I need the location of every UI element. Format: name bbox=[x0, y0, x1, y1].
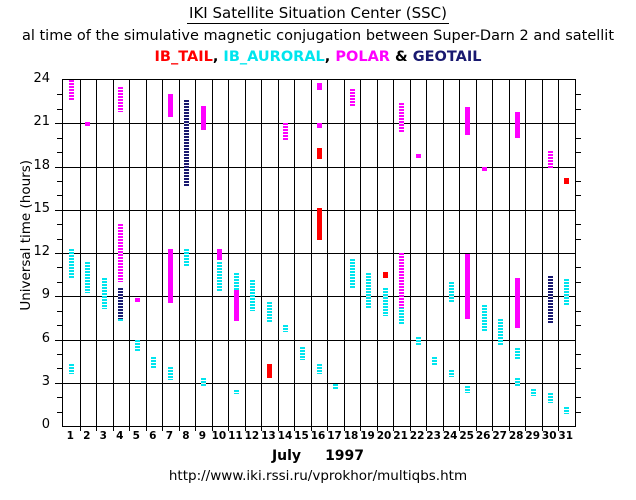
y-tick-major bbox=[55, 340, 63, 341]
data-bar-ib-auroral bbox=[564, 279, 569, 305]
data-bar-ib-auroral bbox=[432, 357, 437, 366]
y-axis-tick-label: 12 bbox=[14, 245, 50, 258]
data-bar-ib-auroral bbox=[168, 367, 173, 380]
y-tick-minor bbox=[57, 239, 63, 240]
y-tick-minor bbox=[57, 109, 63, 110]
data-bar-polar bbox=[217, 249, 222, 261]
grid-line-horizontal bbox=[63, 383, 575, 384]
y-tick-minor bbox=[575, 311, 581, 312]
data-bar-ib-auroral bbox=[531, 389, 536, 396]
y-tick-major bbox=[55, 210, 63, 211]
y-tick-minor bbox=[575, 267, 581, 268]
data-bar-ib-tail bbox=[317, 208, 322, 240]
data-bar-ib-auroral bbox=[102, 278, 107, 310]
page-title-text: IKI Satellite Situation Center (SSC) bbox=[187, 4, 449, 24]
y-tick-major bbox=[55, 123, 63, 124]
y-tick-minor bbox=[57, 397, 63, 398]
data-bar-polar bbox=[135, 298, 140, 302]
x-axis-title: July1997 bbox=[0, 448, 636, 464]
data-bar-ib-auroral bbox=[333, 384, 338, 390]
data-bar-ib-auroral bbox=[515, 378, 520, 385]
data-bar-ib-auroral bbox=[283, 325, 288, 332]
y-tick-minor bbox=[575, 138, 581, 139]
y-tick-minor bbox=[575, 397, 581, 398]
data-bar-polar bbox=[399, 103, 404, 133]
y-tick-minor bbox=[575, 368, 581, 369]
data-bar-polar bbox=[416, 154, 421, 158]
y-tick-minor bbox=[575, 224, 581, 225]
data-bar-polar bbox=[399, 253, 404, 308]
data-bar-ib-auroral bbox=[85, 262, 90, 294]
y-tick-minor bbox=[57, 282, 63, 283]
data-bar-ib-auroral bbox=[69, 249, 74, 278]
source-url: http://www.iki.rssi.ru/vprokhor/multiqbs… bbox=[0, 468, 636, 484]
y-tick-major bbox=[55, 167, 63, 168]
data-bar-ib-auroral bbox=[69, 364, 74, 374]
y-axis-tick-label: 0 bbox=[14, 418, 50, 431]
month-label: July bbox=[272, 448, 301, 464]
data-bar-ib-auroral bbox=[548, 393, 553, 403]
y-tick-minor bbox=[57, 181, 63, 182]
y-axis-title: Universal time (hours) bbox=[18, 160, 38, 360]
y-tick-minor bbox=[575, 195, 581, 196]
y-tick-minor bbox=[575, 109, 581, 110]
data-bar-ib-auroral bbox=[366, 273, 371, 308]
data-bar-polar bbox=[465, 107, 470, 134]
y-tick-minor bbox=[575, 181, 581, 182]
page-subtitle: al time of the simulative magnetic conju… bbox=[0, 27, 636, 45]
y-tick-major bbox=[55, 253, 63, 254]
y-axis-tick-label: 6 bbox=[14, 332, 50, 345]
data-bar-ib-auroral bbox=[300, 347, 305, 360]
data-bar-polar bbox=[118, 224, 123, 282]
y-tick-minor bbox=[575, 354, 581, 355]
data-bar-ib-auroral bbox=[317, 364, 322, 374]
y-tick-minor bbox=[575, 152, 581, 153]
data-bar-polar bbox=[317, 83, 322, 90]
data-bar-ib-auroral bbox=[482, 305, 487, 332]
data-bar-polar bbox=[515, 278, 520, 328]
data-bar-ib-tail bbox=[317, 148, 322, 160]
data-bar-polar bbox=[118, 87, 123, 112]
legend-item-ib-auroral: IB_AURORAL bbox=[223, 49, 324, 65]
data-bar-polar bbox=[548, 151, 553, 170]
data-bar-ib-auroral bbox=[465, 386, 470, 393]
data-bar-polar bbox=[465, 254, 470, 319]
data-bar-ib-auroral bbox=[184, 249, 189, 268]
data-bar-polar bbox=[168, 94, 173, 117]
y-tick-minor bbox=[575, 94, 581, 95]
data-bar-ib-auroral bbox=[416, 337, 421, 346]
y-tick-major bbox=[55, 383, 63, 384]
y-axis-tick-label: 18 bbox=[14, 159, 50, 172]
data-bar-polar bbox=[234, 290, 239, 320]
data-bar-ib-auroral bbox=[449, 370, 454, 377]
y-axis-tick-label: 9 bbox=[14, 288, 50, 301]
legend-item-polar: POLAR bbox=[335, 49, 390, 65]
data-bar-ib-tail bbox=[383, 272, 388, 278]
y-axis-tick-label: 24 bbox=[14, 72, 50, 85]
data-bar-polar bbox=[85, 122, 90, 126]
data-bar-ib-auroral bbox=[201, 378, 206, 385]
data-bar-ib-auroral bbox=[234, 390, 239, 394]
y-tick-minor bbox=[575, 412, 581, 413]
year-label: 1997 bbox=[325, 448, 364, 464]
grid-line-horizontal bbox=[63, 167, 575, 168]
page-title: IKI Satellite Situation Center (SSC) bbox=[0, 4, 636, 22]
data-bar-ib-auroral bbox=[515, 348, 520, 360]
y-tick-minor bbox=[57, 354, 63, 355]
grid-line-horizontal bbox=[63, 253, 575, 254]
legend-item-ib-tail: IB_TAIL bbox=[155, 49, 213, 65]
y-tick-major bbox=[55, 296, 63, 297]
y-tick-minor bbox=[57, 224, 63, 225]
y-tick-minor bbox=[57, 94, 63, 95]
data-bar-ib-auroral bbox=[151, 357, 156, 369]
data-bar-polar bbox=[168, 249, 173, 304]
y-tick-minor bbox=[57, 195, 63, 196]
legend: IB_TAIL, IB_AURORAL, POLAR & GEOTAIL bbox=[0, 48, 636, 66]
legend-separator-2: , bbox=[325, 49, 331, 65]
x-axis-tick-label: 31 bbox=[555, 431, 577, 442]
data-bar-polar bbox=[350, 89, 355, 106]
y-tick-minor bbox=[57, 325, 63, 326]
data-bar-geotail bbox=[548, 276, 553, 324]
y-tick-minor bbox=[57, 368, 63, 369]
data-bar-ib-auroral bbox=[383, 288, 388, 317]
data-bar-ib-auroral bbox=[267, 302, 272, 322]
y-tick-minor bbox=[57, 311, 63, 312]
y-axis-tick-label: 15 bbox=[14, 202, 50, 215]
y-tick-minor bbox=[57, 152, 63, 153]
y-tick-minor bbox=[575, 325, 581, 326]
y-tick-minor bbox=[57, 267, 63, 268]
data-bar-polar bbox=[283, 123, 288, 140]
chart-page: IKI Satellite Situation Center (SSC) al … bbox=[0, 0, 636, 500]
y-axis-tick-label: 3 bbox=[14, 375, 50, 388]
y-tick-minor bbox=[575, 282, 581, 283]
data-bar-polar bbox=[201, 106, 206, 131]
data-bar-ib-auroral bbox=[498, 319, 503, 345]
data-bar-ib-auroral bbox=[564, 407, 569, 414]
y-tick-minor bbox=[575, 239, 581, 240]
data-bar-ib-auroral bbox=[217, 262, 222, 292]
y-tick-minor bbox=[57, 138, 63, 139]
data-bar-ib-auroral bbox=[135, 340, 140, 353]
data-bar-geotail bbox=[118, 288, 123, 320]
data-bar-polar bbox=[515, 112, 520, 138]
legend-separator-3: & bbox=[390, 49, 413, 65]
legend-separator-1: , bbox=[213, 49, 219, 65]
y-tick-minor bbox=[57, 412, 63, 413]
plot-area bbox=[62, 79, 576, 427]
y-axis-tick-label: 21 bbox=[14, 115, 50, 128]
data-bar-ib-auroral bbox=[449, 282, 454, 302]
data-bar-ib-auroral bbox=[250, 280, 255, 310]
data-bar-ib-auroral bbox=[350, 259, 355, 289]
legend-item-geotail: GEOTAIL bbox=[413, 49, 482, 65]
data-bar-polar bbox=[317, 123, 322, 127]
data-bar-geotail bbox=[184, 100, 189, 187]
data-bar-polar bbox=[69, 80, 74, 100]
data-bar-ib-tail bbox=[267, 364, 272, 378]
data-bar-polar bbox=[482, 167, 487, 171]
data-bar-ib-tail bbox=[564, 178, 569, 184]
